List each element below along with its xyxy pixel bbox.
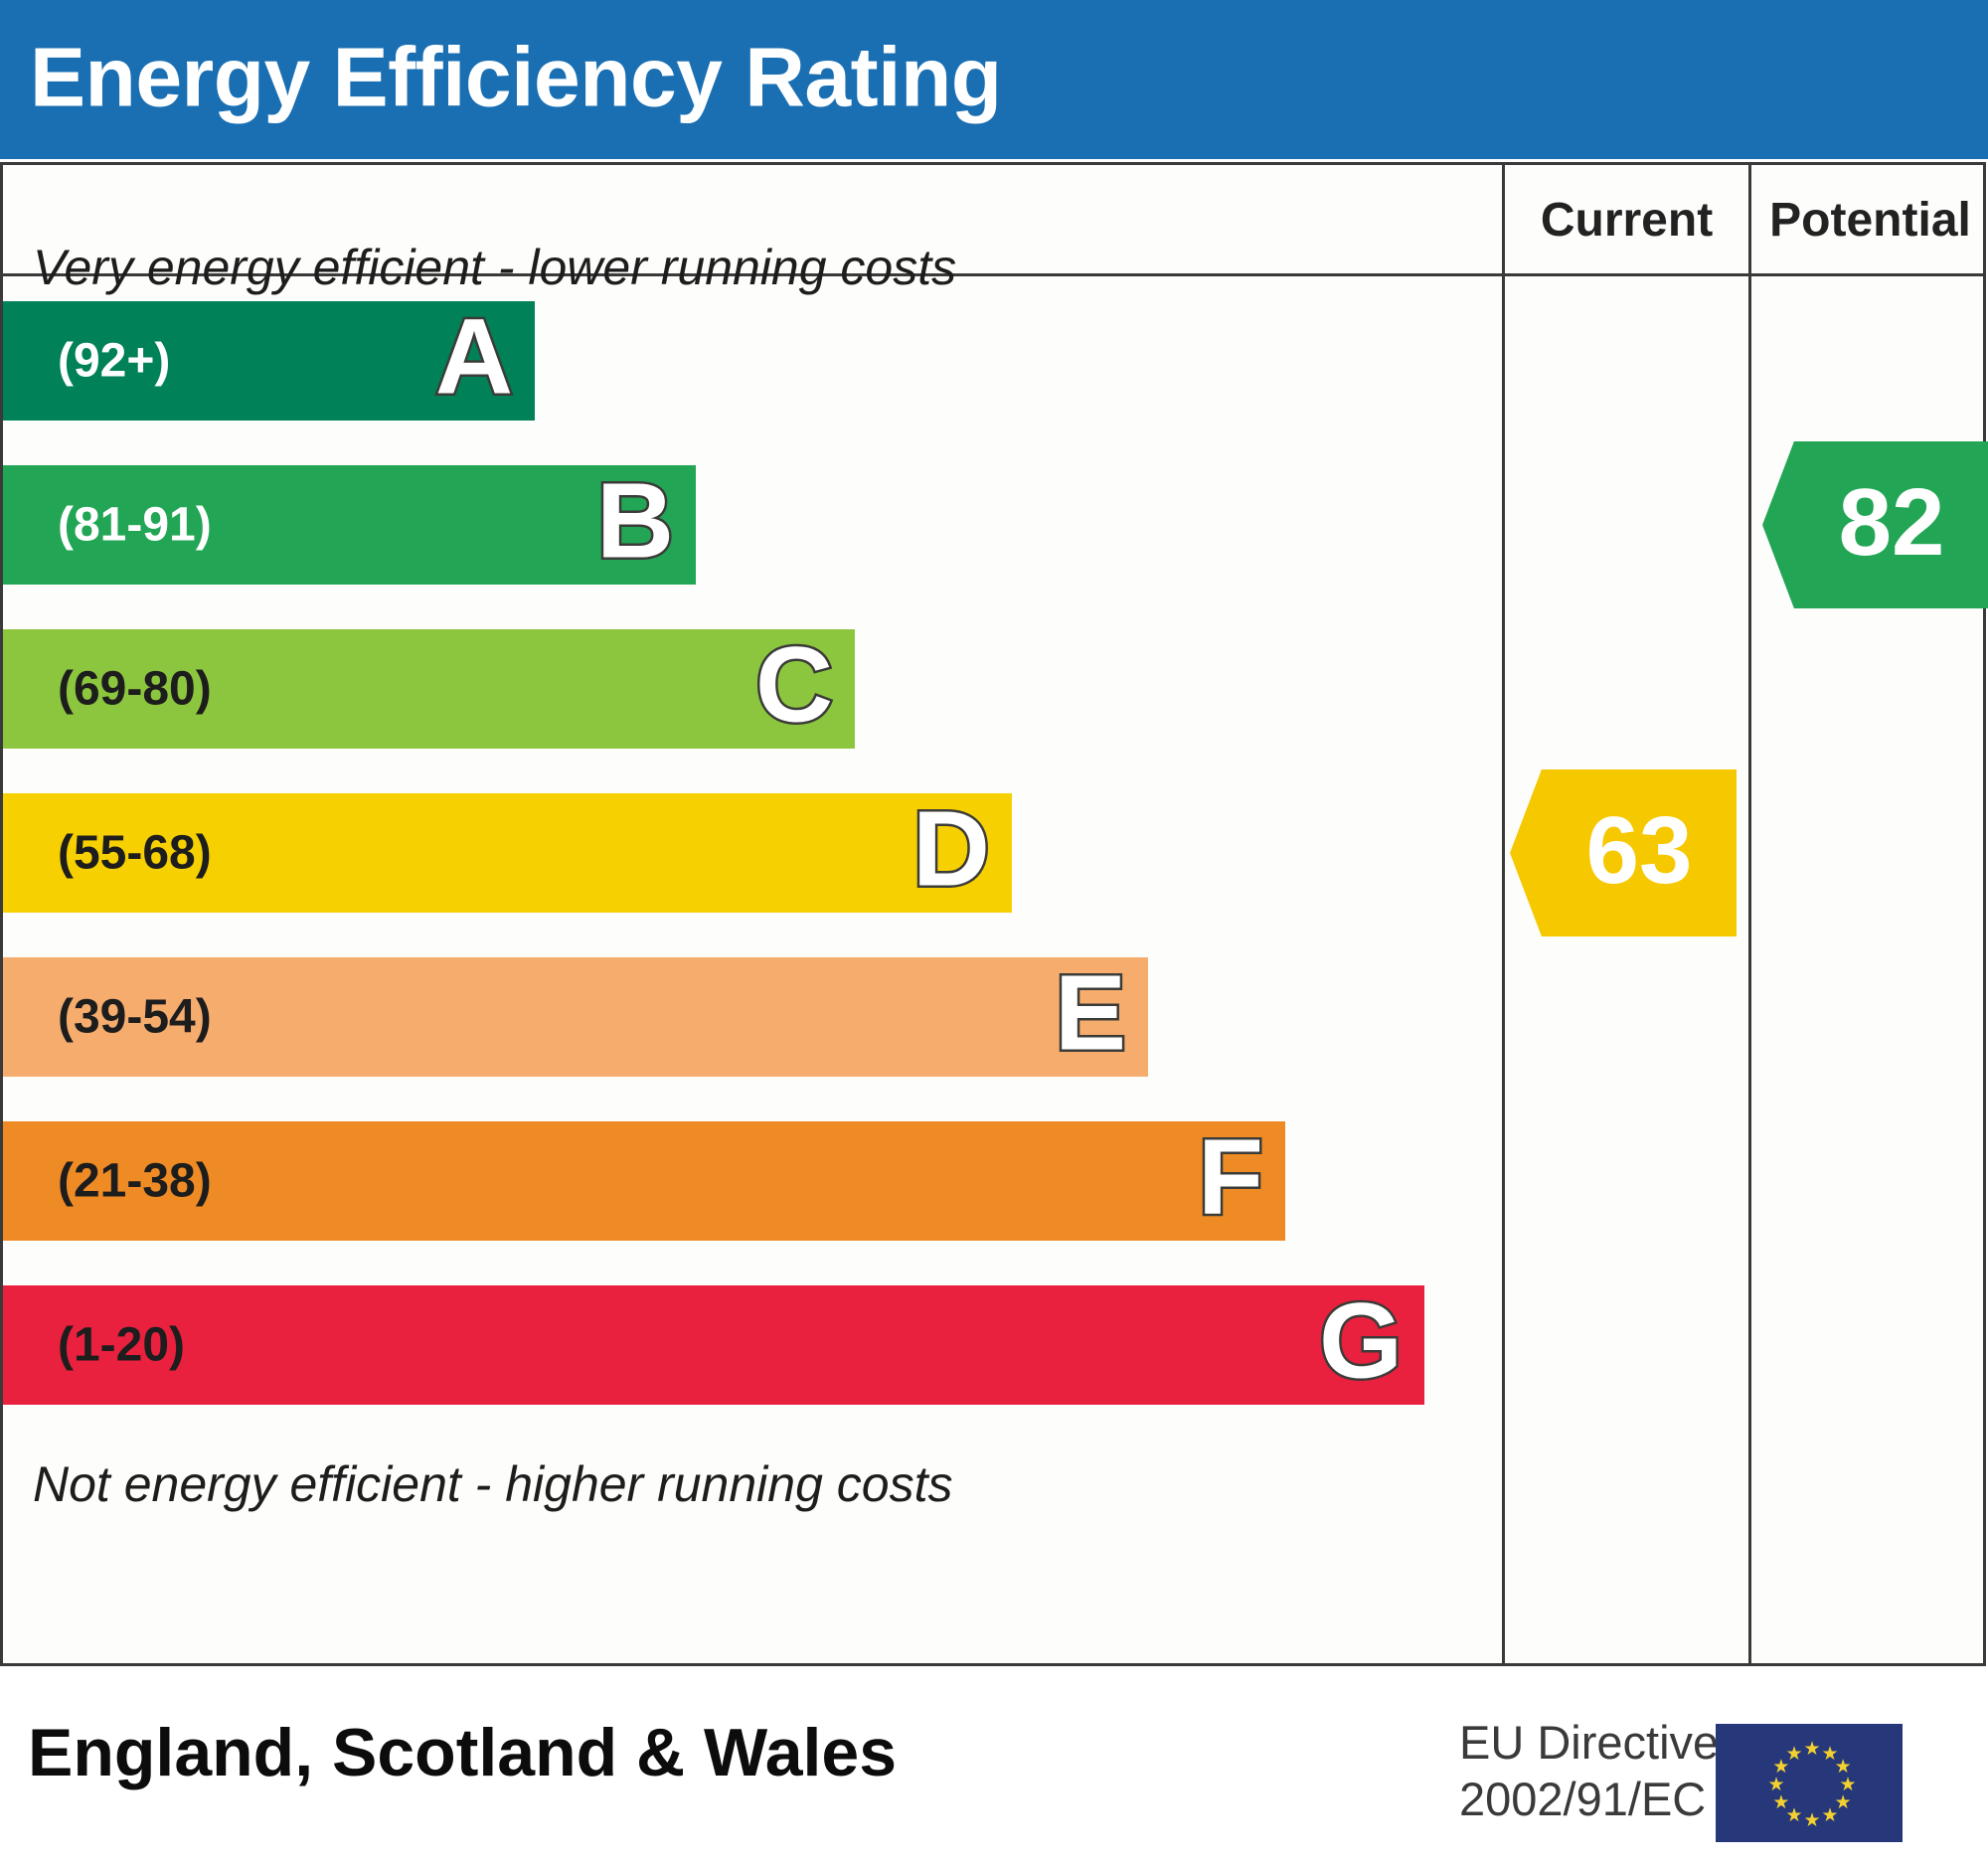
eu-directive-line-2: 2002/91/EC	[1459, 1771, 1719, 1827]
band-range-c: (69-80)	[58, 662, 212, 717]
eu-flag-star: ★	[1804, 1813, 1819, 1828]
eu-flag-star: ★	[1772, 1795, 1787, 1810]
column-header-potential: Potential	[1751, 165, 1988, 276]
current-rating-value: 63	[1556, 803, 1724, 899]
eu-flag-star: ★	[1804, 1742, 1819, 1757]
page-title: Energy Efficiency Rating	[30, 30, 1002, 126]
potential-rating-value: 82	[1808, 475, 1976, 571]
rating-chart-table: Current Potential Very energy efficient …	[0, 162, 1986, 1666]
rating-band-d: (55-68)D	[3, 793, 1012, 913]
rating-band-g: (1-20)G	[3, 1285, 1424, 1405]
column-divider-current	[1502, 165, 1505, 1663]
region-label: England, Scotland & Wales	[28, 1714, 897, 1791]
band-letter-c: C	[755, 631, 833, 739]
eu-flag-star: ★	[1835, 1760, 1850, 1775]
band-range-d: (55-68)	[58, 826, 212, 881]
certificate-footer: England, Scotland & Wales EU Directive 2…	[0, 1666, 1988, 1866]
band-letter-e: E	[1055, 959, 1126, 1067]
column-divider-potential	[1748, 165, 1751, 1663]
band-letter-g: G	[1319, 1287, 1403, 1395]
rating-band-b: (81-91)B	[3, 465, 696, 585]
band-letter-b: B	[596, 467, 674, 575]
band-letter-f: F	[1198, 1123, 1263, 1231]
column-header-current: Current	[1505, 165, 1748, 276]
current-rating-arrow: 63	[1510, 769, 1737, 936]
band-range-g: (1-20)	[58, 1318, 185, 1373]
rating-band-a: (92+)A	[3, 301, 535, 421]
band-range-f: (21-38)	[58, 1154, 212, 1209]
energy-efficiency-rating-certificate: Energy Efficiency Rating Current Potenti…	[0, 0, 1988, 1866]
eu-flag-star: ★	[1840, 1778, 1855, 1792]
potential-rating-arrow: 82	[1762, 441, 1988, 608]
band-range-e: (39-54)	[58, 990, 212, 1045]
eu-flag-star: ★	[1786, 1747, 1801, 1762]
band-range-b: (81-91)	[58, 498, 212, 553]
chart-title-bar: Energy Efficiency Rating	[0, 0, 1988, 159]
caption-very-efficient: Very energy efficient - lower running co…	[33, 239, 956, 296]
rating-band-e: (39-54)E	[3, 957, 1148, 1077]
caption-not-efficient: Not energy efficient - higher running co…	[33, 1455, 953, 1513]
rating-bands-group: (92+)A(81-91)B(69-80)C(55-68)D(39-54)E(2…	[3, 301, 1439, 1444]
rating-band-c: (69-80)C	[3, 629, 855, 749]
eu-flag-star: ★	[1768, 1778, 1783, 1792]
eu-flag-icon: ★★★★★★★★★★★★	[1716, 1724, 1903, 1842]
band-letter-a: A	[435, 303, 513, 411]
eu-flag-star: ★	[1822, 1808, 1837, 1823]
eu-directive-line-1: EU Directive	[1459, 1714, 1719, 1771]
band-range-a: (92+)	[58, 334, 170, 389]
band-letter-d: D	[912, 795, 990, 903]
eu-directive-text: EU Directive 2002/91/EC	[1459, 1714, 1719, 1828]
rating-band-f: (21-38)F	[3, 1121, 1285, 1241]
